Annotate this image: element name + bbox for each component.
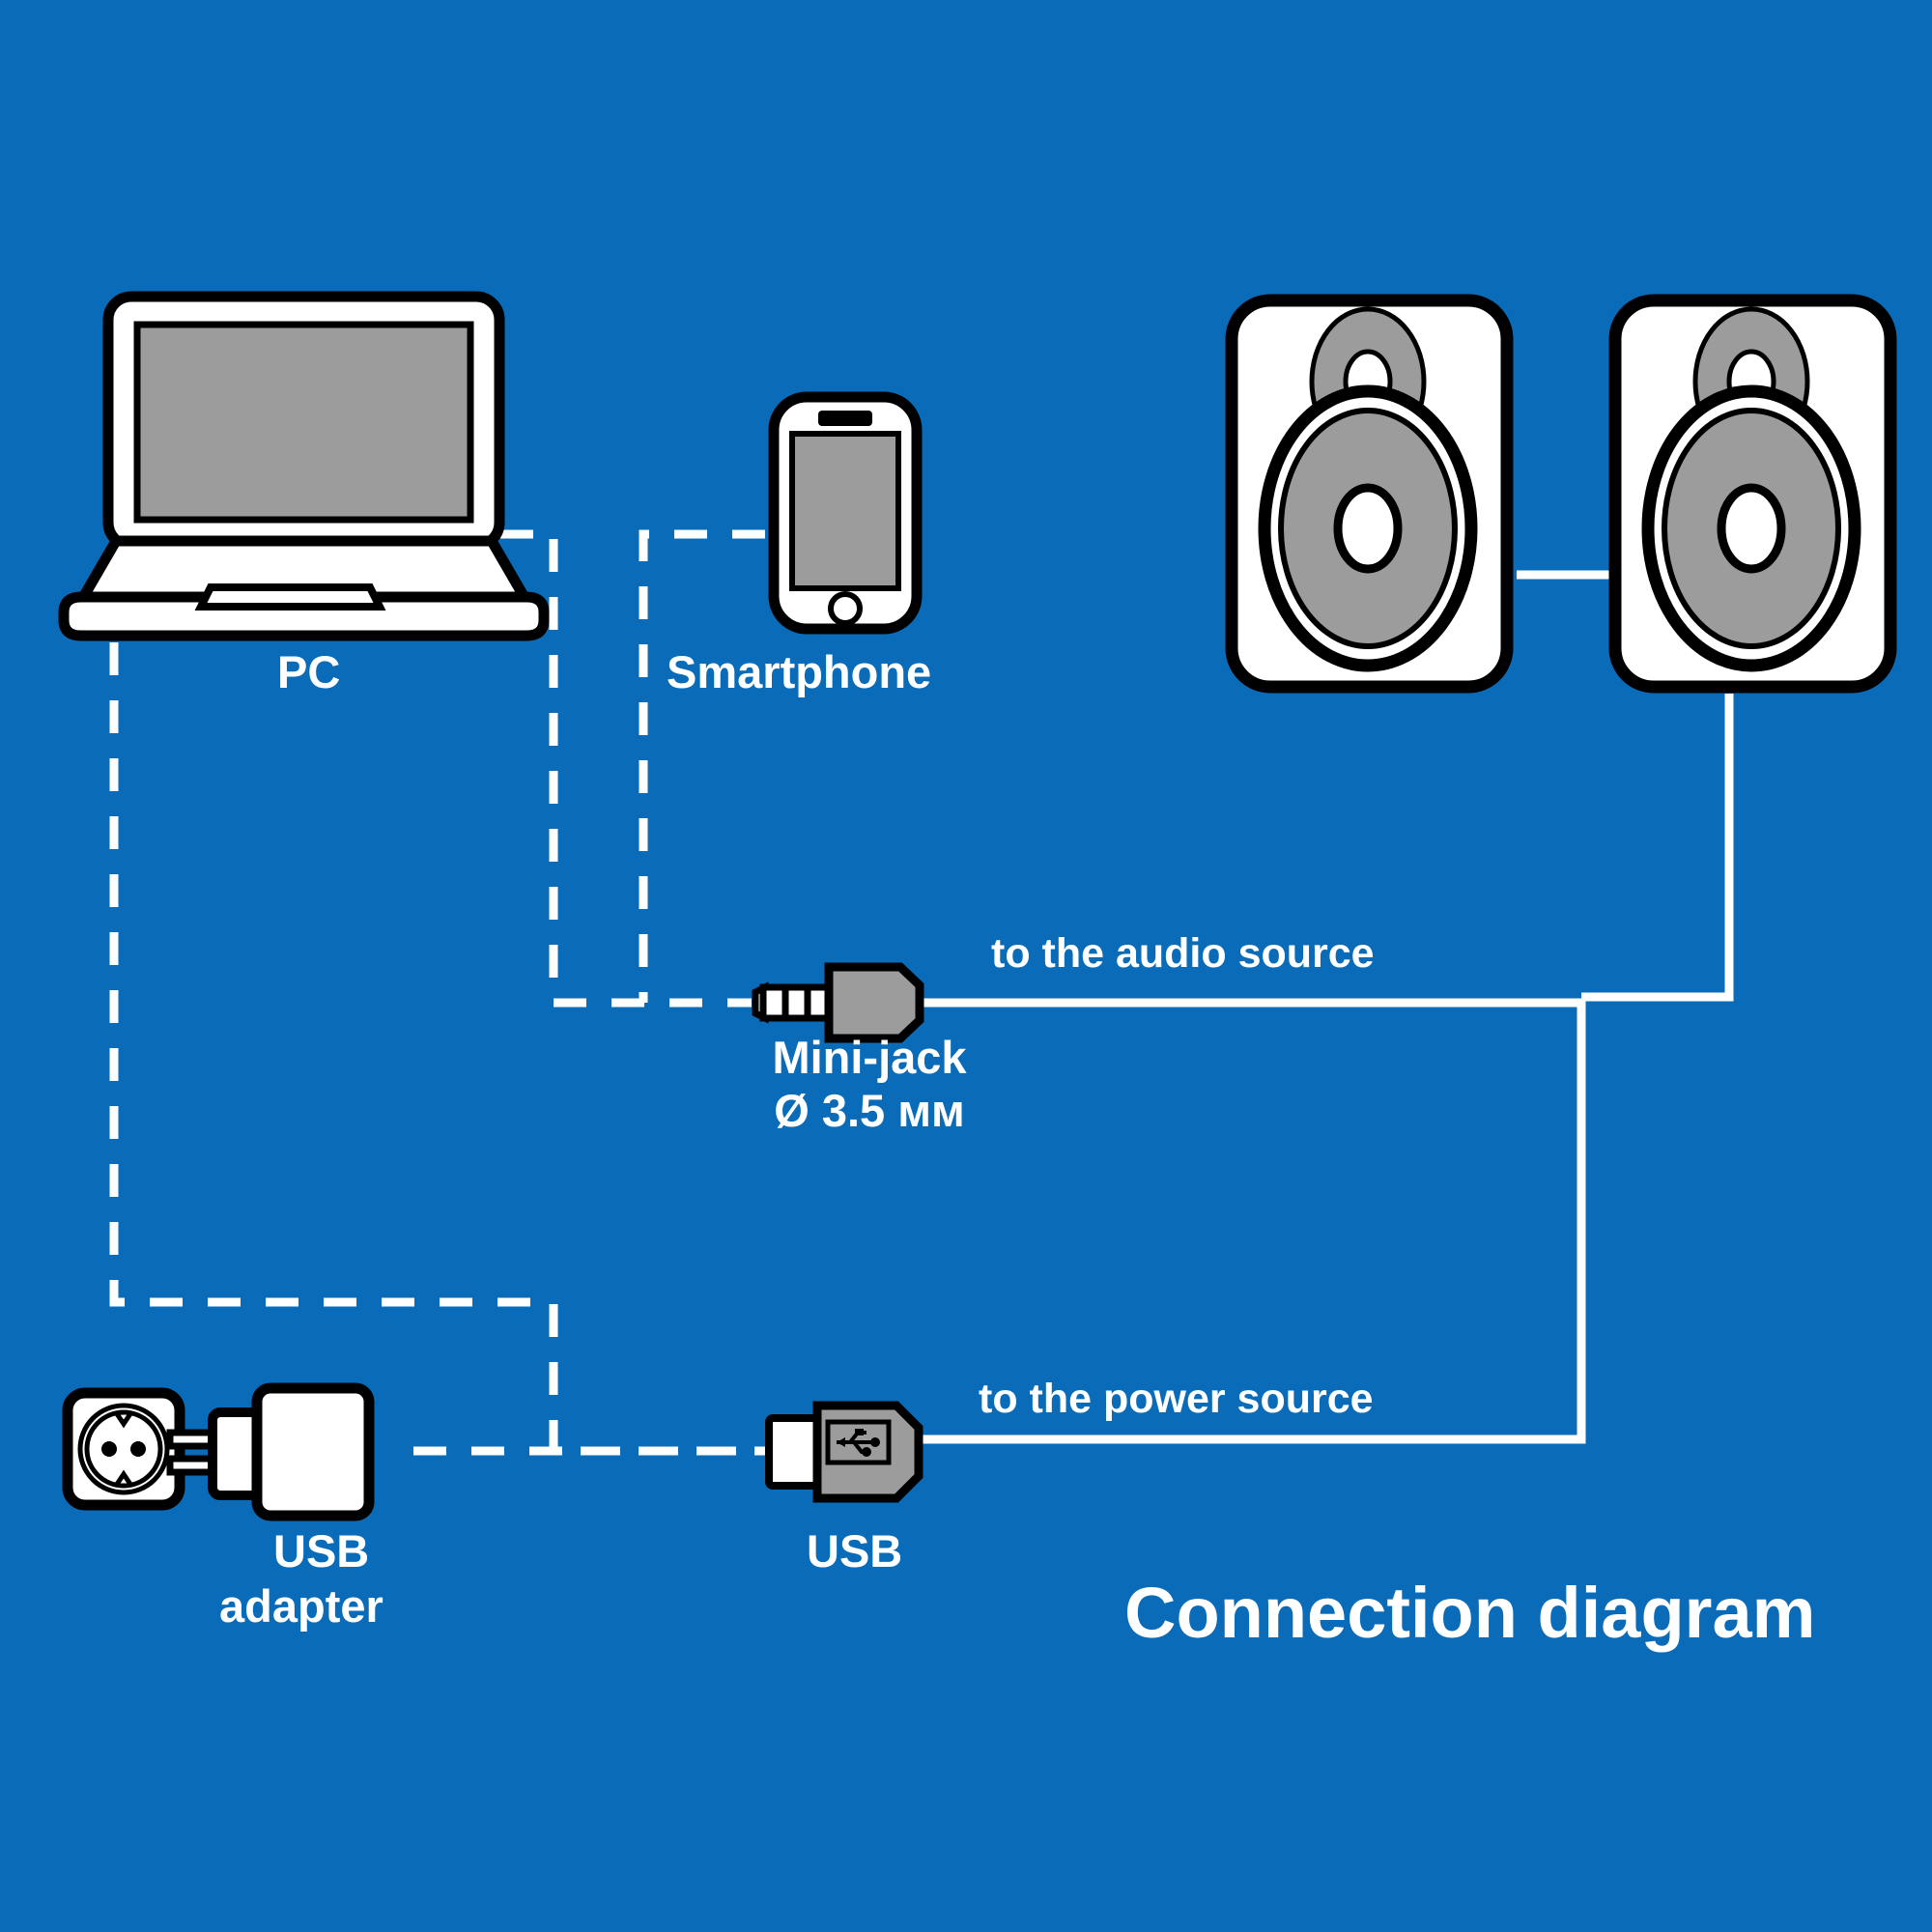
page-title: Connection diagram [1124,1572,1815,1654]
phone-earpiece [818,411,872,426]
cable-smartphone-to-minijack [643,534,765,1003]
connection-diagram-canvas: PC Smartphone Mini-jack Ø 3.5 мм to the … [0,0,1932,1932]
label-power-source-note: to the power source [979,1376,1374,1423]
laptop-screen [137,325,470,520]
label-usb-adapter-line1: USB [273,1524,369,1577]
label-audio-source-note: to the audio source [991,930,1375,978]
power-socket-icon [68,1393,180,1505]
label-usb: USB [807,1524,902,1577]
label-usb-adapter-line2: adapter [219,1579,384,1633]
speaker-right [1615,300,1890,687]
label-smartphone: Smartphone [667,645,931,698]
speaker-right-woofer-dust-cap [1721,488,1781,569]
socket-hole-left [101,1441,117,1457]
laptop-trackpad [201,587,380,607]
mini-jack-plug-icon [755,967,920,1038]
cable-audio-to-speaker-run [919,1003,1581,1439]
speaker-left-woofer-dust-cap [1338,488,1398,569]
label-minijack-line2: Ø 3.5 мм [744,1085,995,1138]
smartphone-icon [774,397,917,629]
socket-recess-inner [87,1412,160,1486]
adapter-body [257,1388,369,1516]
laptop-icon [64,297,544,636]
label-minijack-line1: Mini-jack [744,1032,995,1085]
cable-speaker-drop [1581,694,1729,997]
usb-plug-icon [769,1406,919,1498]
label-pc: PC [277,645,340,698]
socket-hole-right [130,1441,146,1457]
solid-cable-group [919,575,1729,1439]
phone-screen [792,434,898,588]
phone-home-button [831,594,860,623]
usb-power-adapter-icon [170,1388,369,1516]
jack-barrel [829,967,920,1038]
cable-pc-to-usb [114,642,769,1451]
speaker-left [1232,300,1507,687]
speaker-pair-icon [1232,300,1890,687]
